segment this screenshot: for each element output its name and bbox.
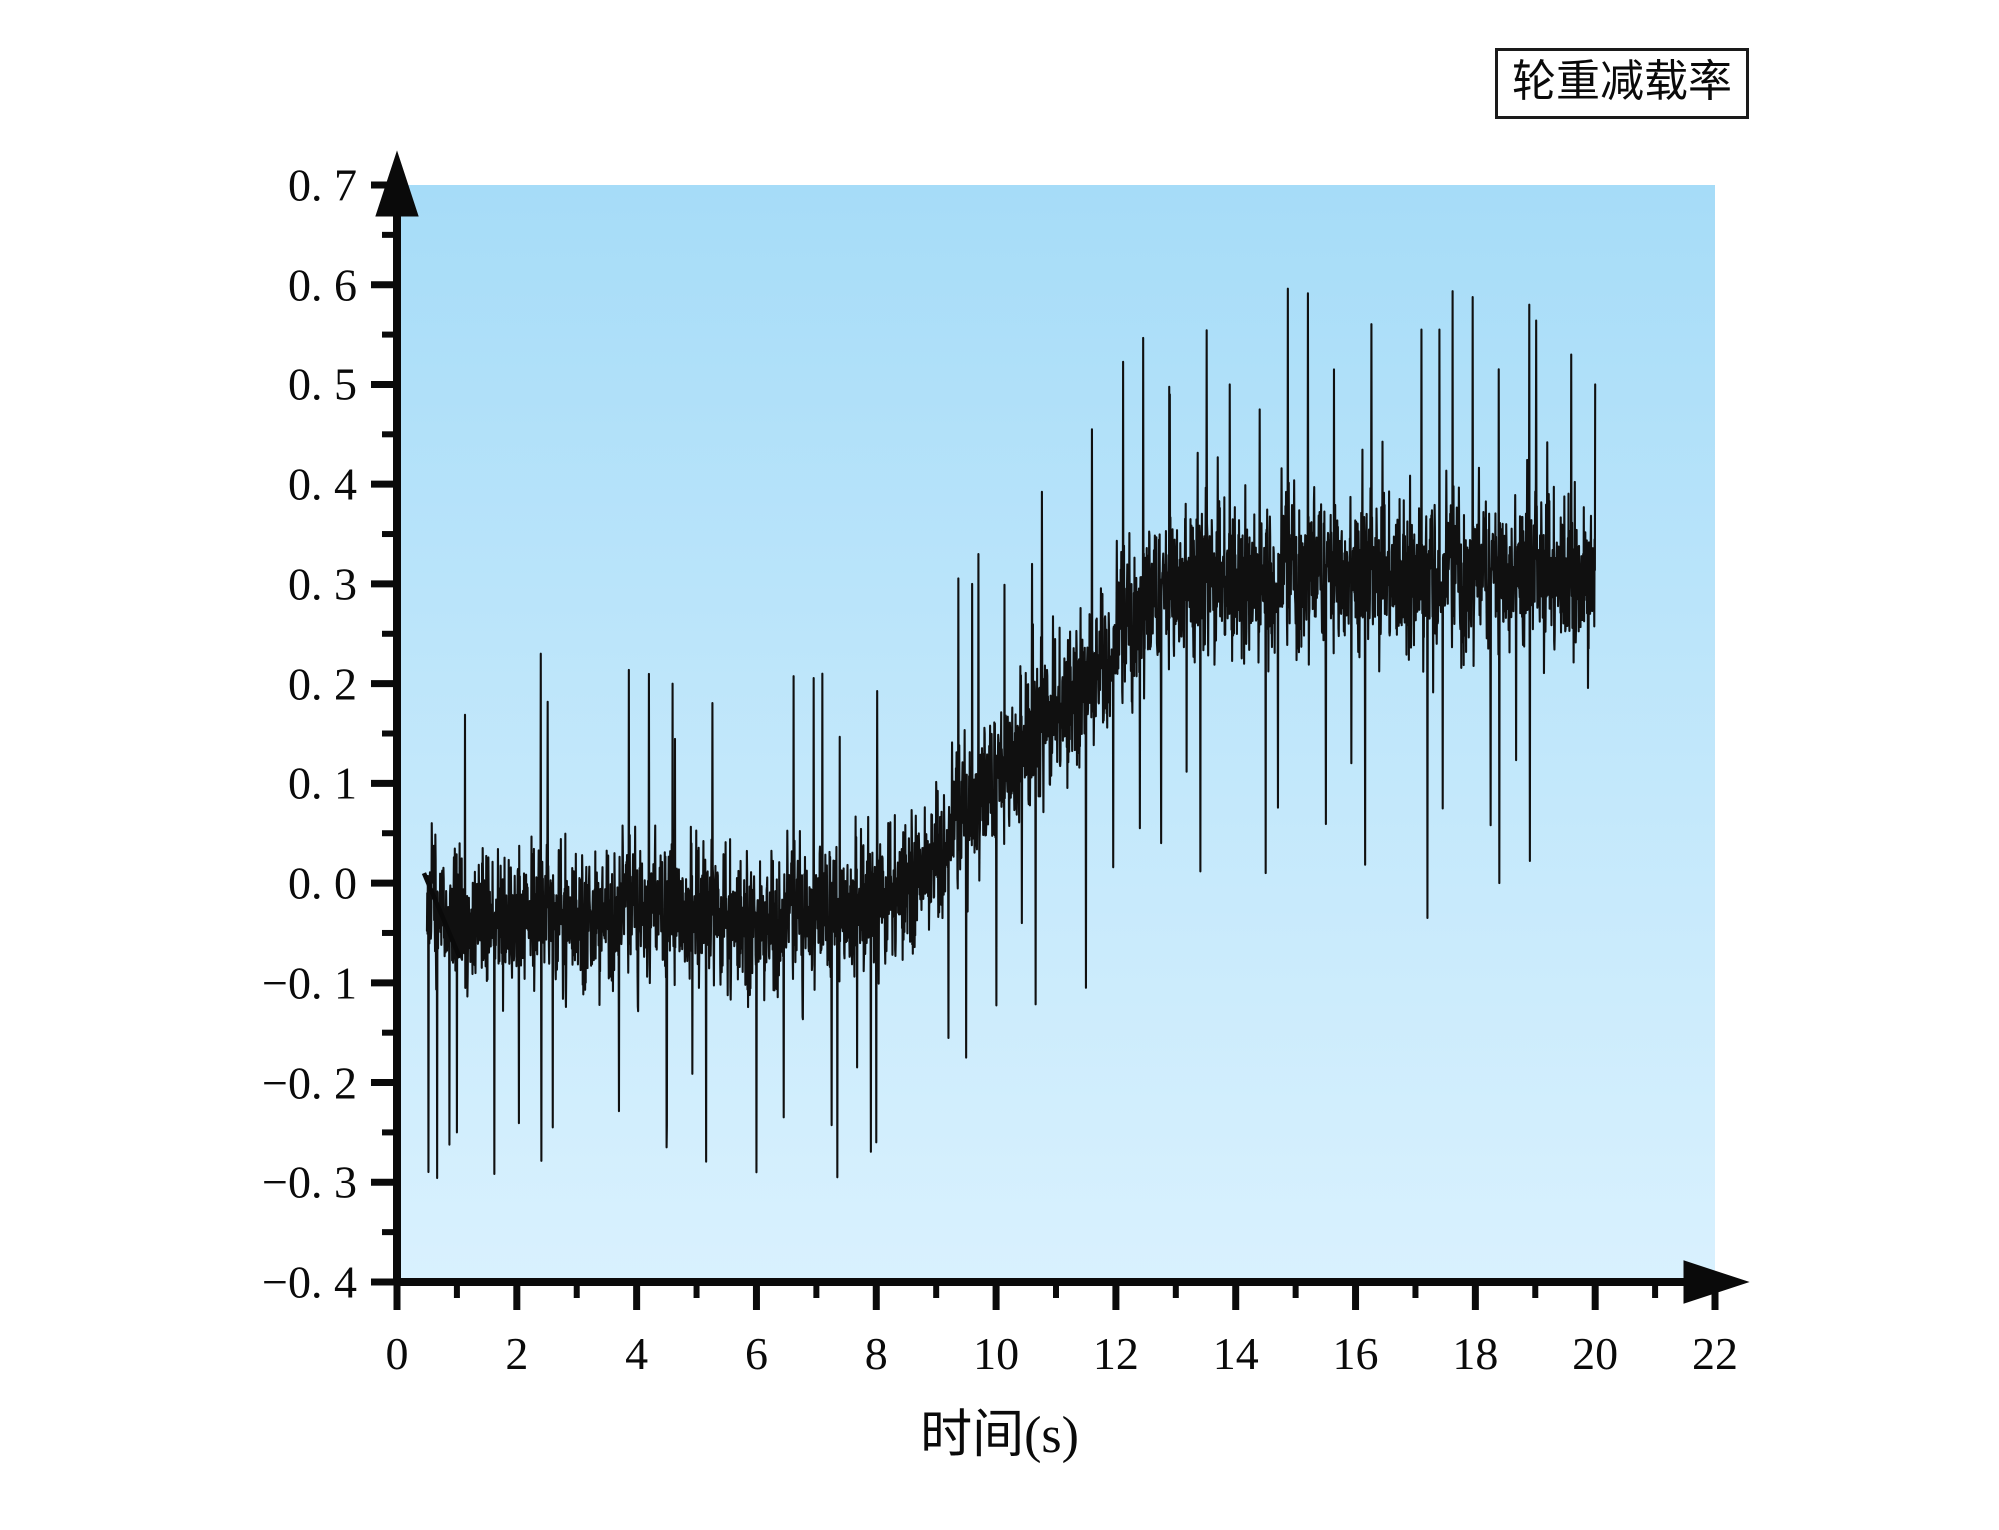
x-tick-label: 10 xyxy=(973,1327,1019,1380)
x-tick-label: 12 xyxy=(1093,1327,1139,1380)
y-tick-label: −0. 4 xyxy=(262,1256,357,1309)
legend-box: 轮重减载率 xyxy=(1495,48,1749,119)
x-tick-label: 4 xyxy=(625,1327,648,1380)
y-tick-label: 0. 0 xyxy=(288,857,357,910)
x-tick-label: 2 xyxy=(505,1327,528,1380)
y-tick-label: 0. 3 xyxy=(288,557,357,610)
x-tick-label: 8 xyxy=(865,1327,888,1380)
y-tick-label: 0. 4 xyxy=(288,458,357,511)
x-tick-label: 0 xyxy=(386,1327,409,1380)
x-tick-label: 18 xyxy=(1452,1327,1498,1380)
y-tick-label: 0. 7 xyxy=(288,159,357,212)
x-tick-label: 14 xyxy=(1213,1327,1259,1380)
legend-label: 轮重减载率 xyxy=(1512,57,1732,106)
y-tick-label: 0. 5 xyxy=(288,358,357,411)
y-tick-label: 0. 6 xyxy=(288,258,357,311)
y-tick-label: 0. 2 xyxy=(288,657,357,710)
x-tick-label: 6 xyxy=(745,1327,768,1380)
x-tick-label: 20 xyxy=(1572,1327,1618,1380)
x-tick-label: 16 xyxy=(1333,1327,1379,1380)
x-axis-title-text: 时间(s) xyxy=(920,1407,1079,1464)
x-tick-label: 22 xyxy=(1692,1327,1738,1380)
chart-figure: −0. 4−0. 3−0. 2−0. 10. 00. 10. 20. 30. 4… xyxy=(0,0,1999,1530)
y-tick-label: 0. 1 xyxy=(288,757,357,810)
y-tick-label: −0. 3 xyxy=(262,1156,357,1209)
y-tick-label: −0. 1 xyxy=(262,956,357,1009)
y-tick-label: −0. 2 xyxy=(262,1056,357,1109)
x-axis-title: 时间(s) xyxy=(0,1392,1999,1467)
